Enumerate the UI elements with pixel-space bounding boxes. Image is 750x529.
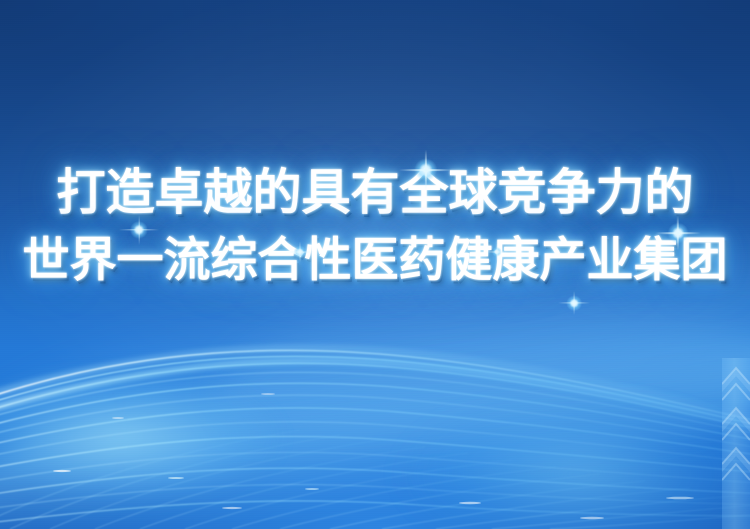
sparkle-ray-horizontal (399, 169, 453, 171)
sparkle-line1-left-icon (119, 210, 159, 250)
sparkle-core (294, 246, 307, 259)
sparkle-ray-horizontal (655, 232, 701, 234)
sparkle-ray-vertical (138, 215, 139, 245)
sparkle-ray-vertical (300, 242, 301, 263)
sparkle-ray-vertical (573, 291, 574, 315)
sparkle-core (566, 295, 582, 311)
banner-canvas: 打造卓越的具有全球竞争力的 世界一流综合性医药健康产业集团 (0, 0, 750, 529)
sparkle-line1-right-icon (655, 210, 701, 256)
sparkle-ray-horizontal (558, 302, 590, 303)
sparkle-ray-vertical (425, 150, 427, 191)
sparkle-ray-horizontal (119, 229, 159, 230)
sparkle-core (492, 247, 502, 257)
sparkle-line2-center-icon (286, 238, 314, 266)
sparkle-top-center-icon (399, 143, 453, 197)
sparkle-core (414, 158, 437, 181)
sparkle-core (668, 223, 689, 244)
sparkle-ray-horizontal (286, 252, 314, 253)
sparkle-line2-right-icon (558, 287, 590, 319)
sparkle-ray-vertical (497, 244, 498, 261)
sparkle-ray-horizontal (486, 252, 508, 253)
sparkle-layer (0, 0, 750, 529)
sparkle-mid-right-icon (486, 241, 508, 263)
sparkle-ray-vertical (677, 216, 679, 251)
sparkle-core (130, 221, 148, 239)
